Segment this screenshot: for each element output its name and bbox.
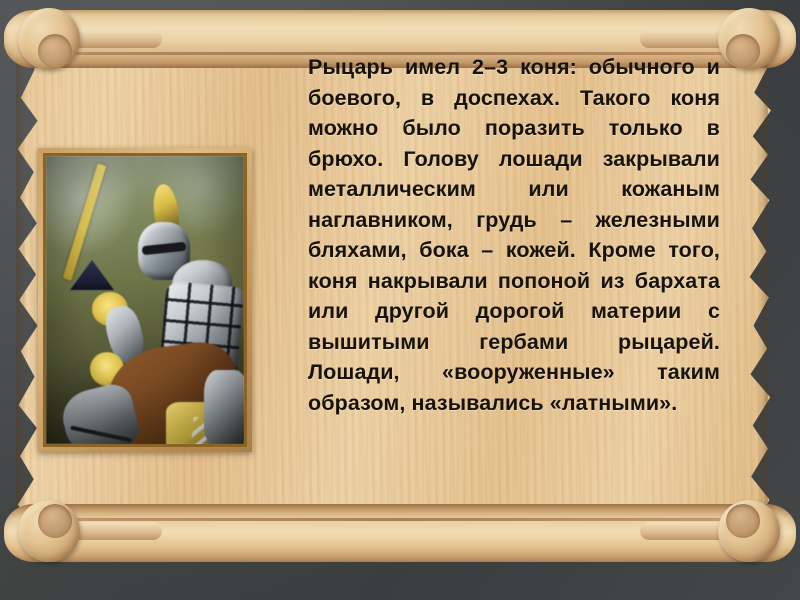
scroll-curl-top-left — [18, 8, 80, 70]
scroll-roll-bottom-ridge — [30, 518, 770, 521]
knight-photo-frame — [38, 148, 252, 452]
slide-body-text: Рыцарь имел 2–3 коня: обычного и боевого… — [308, 52, 720, 418]
scroll-curl-bottom-left — [18, 500, 80, 562]
knight-photo-frame-inner — [43, 153, 247, 447]
knight-photo — [46, 156, 244, 444]
scroll-curl-tail-top-left — [70, 30, 162, 48]
scroll-curl-top-left-core — [38, 34, 72, 68]
presentation-slide: Рыцарь имел 2–3 коня: обычного и боевого… — [0, 0, 800, 600]
scroll-curl-bottom-right-core — [726, 504, 760, 538]
photo-vignette — [46, 156, 244, 444]
parchment-right-edge-shadow — [758, 56, 768, 546]
scroll-curl-bottom-right — [718, 500, 780, 562]
scroll-curl-top-right-core — [726, 34, 760, 68]
body-paragraph: Рыцарь имел 2–3 коня: обычного и боевого… — [308, 52, 720, 418]
parchment-left-edge-shadow — [16, 56, 26, 546]
scroll-curl-tail-bottom-left — [70, 522, 162, 540]
scroll-curl-bottom-left-core — [38, 504, 72, 538]
scroll-curl-top-right — [718, 8, 780, 70]
